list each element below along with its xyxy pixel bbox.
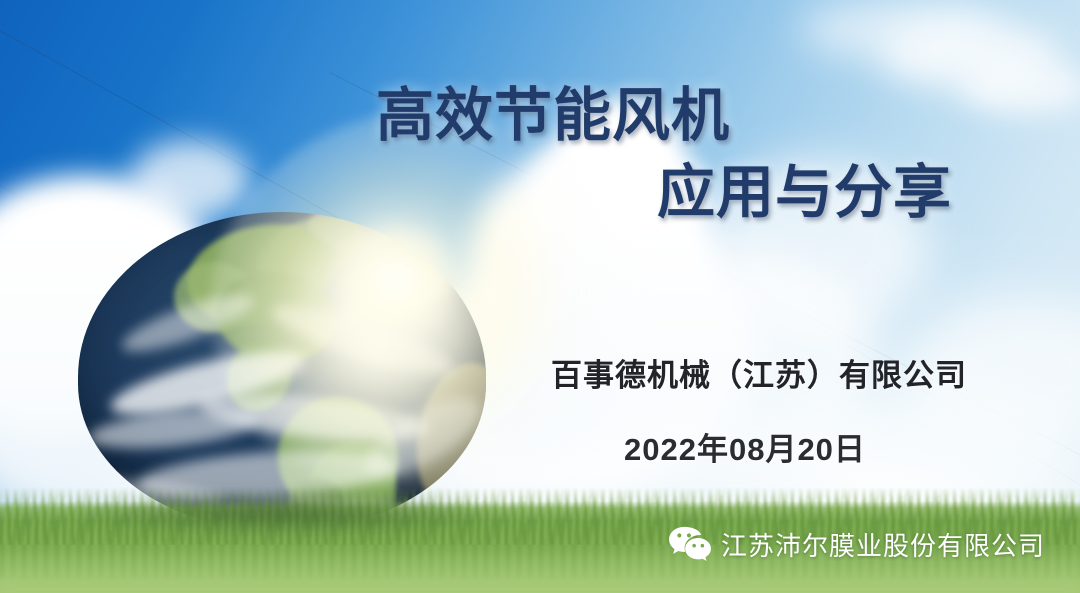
earth-globe	[78, 212, 486, 530]
wechat-footer-badge[interactable]: 江苏沛尔膜业股份有限公司	[668, 525, 1045, 563]
globe-sphere	[78, 212, 486, 530]
cloud	[800, 0, 1000, 60]
presentation-date: 2022年08月20日	[624, 424, 866, 469]
slide-title: 高效节能风机 应用与分享	[0, 86, 1080, 222]
wechat-icon	[668, 525, 712, 563]
wechat-account-name: 江苏沛尔膜业股份有限公司	[721, 526, 1045, 563]
company-name: 百事德机械（江苏）有限公司	[551, 350, 967, 395]
title-line-1: 高效节能风机	[376, 86, 1080, 145]
presentation-title-slide: 高效节能风机 应用与分享 百事德机械（江苏）有限公司 2022年08月20日 江…	[0, 0, 1080, 593]
globe-ground-shadow	[70, 491, 500, 535]
title-line-2: 应用与分享	[657, 163, 1080, 222]
globe-sunlight-wash	[228, 212, 486, 482]
